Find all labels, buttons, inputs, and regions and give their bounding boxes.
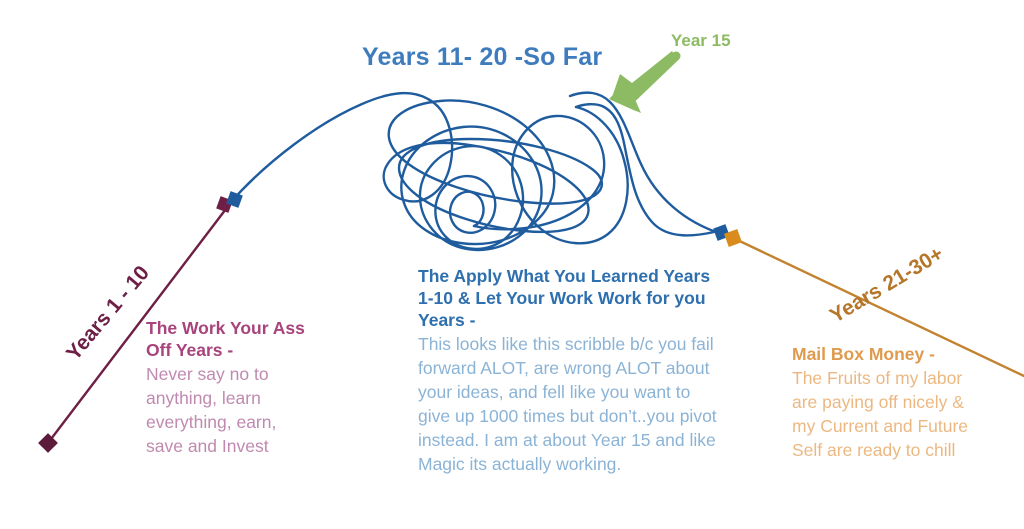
phase-11-20-body: This looks like this scribble b/c you fa…	[418, 332, 720, 476]
phase-1-10-title: The Work Your Ass Off Years -	[146, 317, 316, 361]
phase-21-30-text-block: Mail Box Money - The Fruits of my labor …	[792, 343, 987, 462]
phase-1-10-text-block: The Work Your Ass Off Years - Never say …	[146, 317, 316, 458]
phase-21-30-title: Mail Box Money -	[792, 343, 987, 365]
phase-11-20-text-block: The Apply What You Learned Years 1-10 & …	[418, 265, 720, 476]
phase-11-20-line	[230, 93, 722, 250]
journey-infographic: Years 11- 20 -So Far Year 15 Years 1 - 1…	[0, 0, 1024, 529]
year-15-callout-label: Year 15	[671, 31, 731, 51]
phase-21-30-body: The Fruits of my labor are paying off ni…	[792, 366, 987, 462]
page-title: Years 11- 20 -So Far	[362, 43, 602, 72]
phase-1-10-body: Never say no to anything, learn everythi…	[146, 362, 316, 458]
square-marker-icon	[38, 433, 58, 453]
arrow-down-left-icon	[609, 51, 678, 113]
phase-11-20-title: The Apply What You Learned Years 1-10 & …	[418, 265, 720, 331]
